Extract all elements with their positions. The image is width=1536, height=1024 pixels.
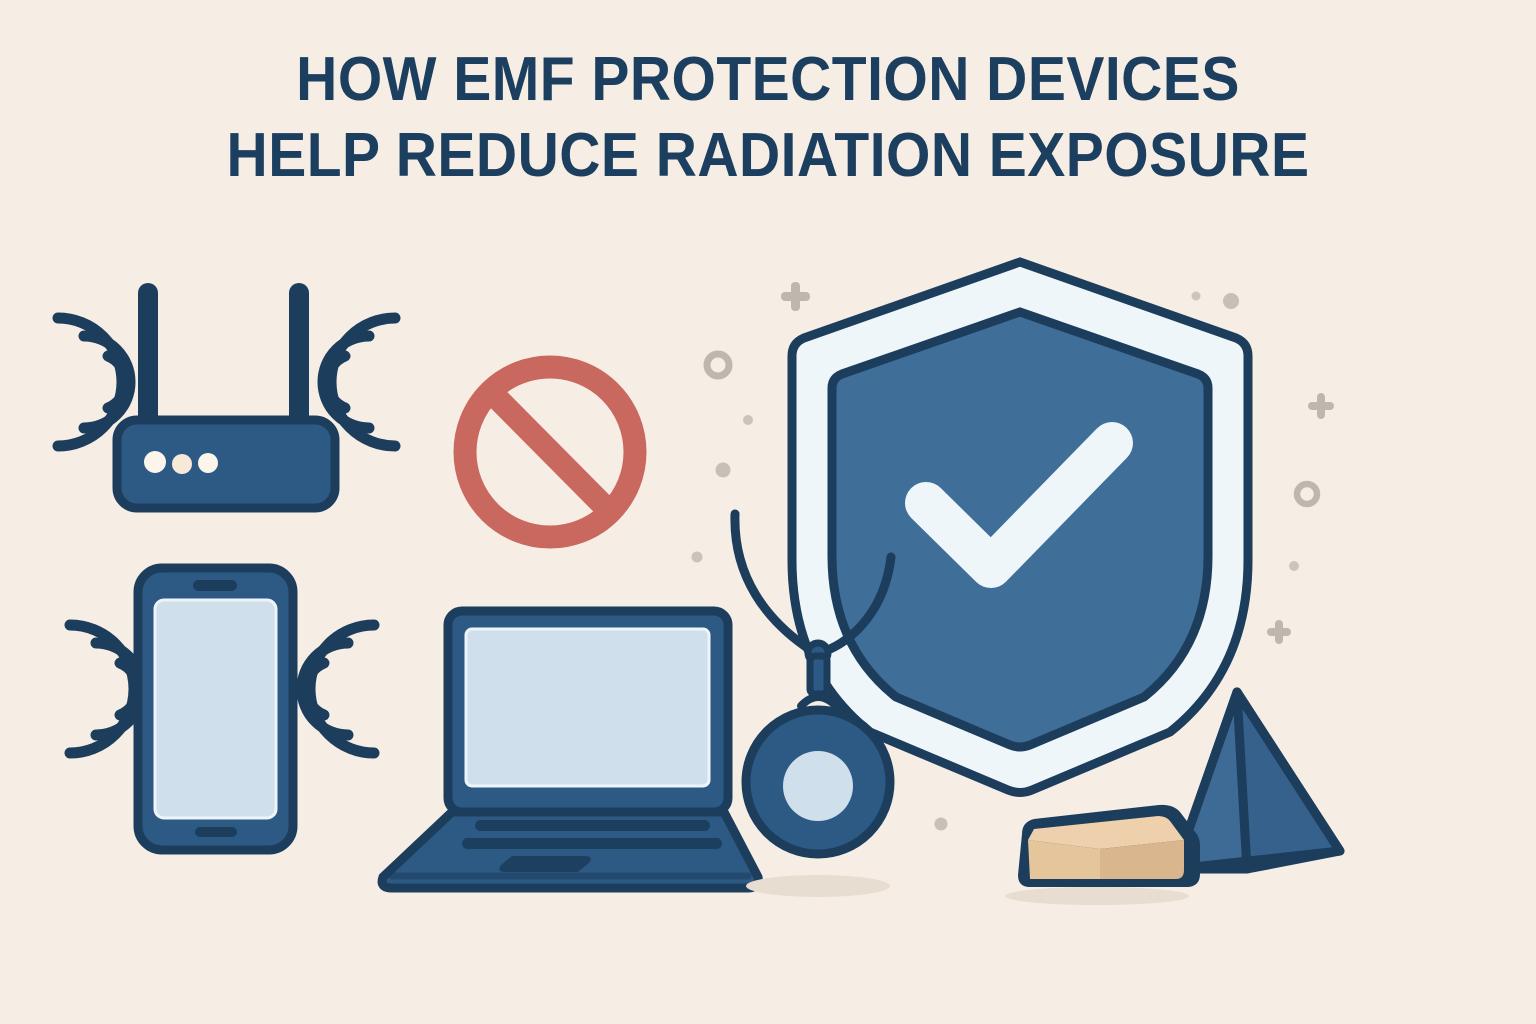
dot-accent-icon xyxy=(1223,293,1239,309)
router-led xyxy=(198,453,218,473)
dot-accent-icon xyxy=(935,818,948,831)
router-led xyxy=(144,451,166,473)
infographic-canvas: HOW EMF PROTECTION DEVICES HELP REDUCE R… xyxy=(0,0,1536,1024)
pendant-bail xyxy=(810,656,827,694)
phone-wave-right xyxy=(302,625,374,753)
laptop-keyboard-row xyxy=(475,820,710,831)
phone-home-button xyxy=(195,827,237,837)
wifi-router xyxy=(58,283,395,508)
phone-screen xyxy=(155,600,276,818)
prohibition-sign-icon xyxy=(465,367,635,537)
dot-accent-icon xyxy=(1289,561,1299,571)
pendant-shadow xyxy=(746,875,890,897)
plus-accent-icon xyxy=(1308,393,1334,419)
cube-shadow xyxy=(1005,887,1189,905)
laptop xyxy=(382,611,758,888)
smartphone xyxy=(70,568,374,850)
ring-accent-icon xyxy=(707,354,729,376)
dot-accent-icon xyxy=(1192,292,1201,301)
phone-speaker xyxy=(193,580,237,591)
laptop-keyboard-row xyxy=(462,838,722,849)
dot-accent-icon xyxy=(692,552,703,563)
pendant-loop xyxy=(801,697,836,706)
dot-accent-icon xyxy=(716,463,731,478)
phone-wave-left xyxy=(70,625,142,753)
dot-accent-icon xyxy=(743,415,753,425)
protection-shield xyxy=(792,262,1248,793)
illustration-artboard xyxy=(0,0,1536,1024)
laptop-screen xyxy=(466,629,709,786)
laptop-trackpad xyxy=(499,856,591,872)
ring-accent-icon xyxy=(1297,484,1317,504)
plus-accent-icon xyxy=(1267,620,1291,644)
shungite-cube xyxy=(1005,805,1200,905)
router-led xyxy=(172,454,192,474)
pendant-disc-inner xyxy=(783,751,853,821)
plus-accent-icon xyxy=(781,282,810,311)
